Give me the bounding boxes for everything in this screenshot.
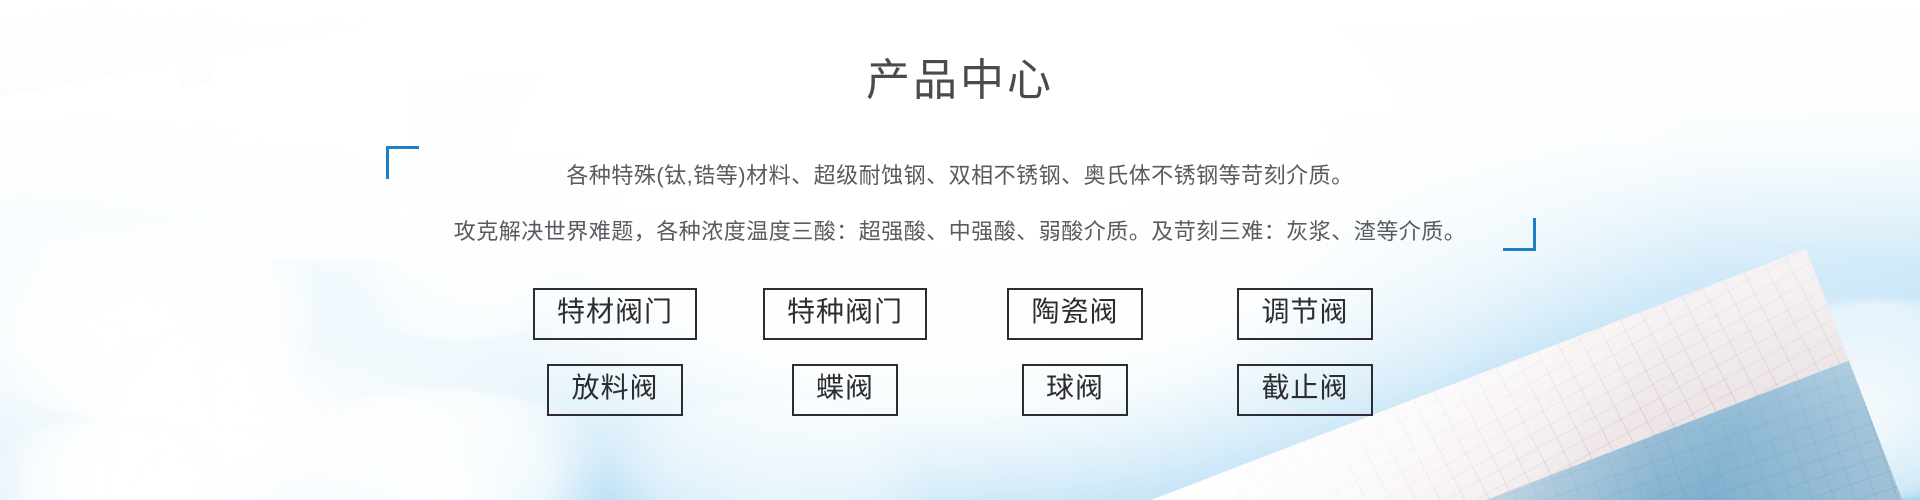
description-line-1: 各种特殊(钛,锆等)材料、超级耐蚀钢、双相不锈钢、奥氏体不锈钢等苛刻介质。 [0,148,1920,204]
product-category-cell: 陶瓷阀 [960,288,1190,340]
category-button-tezhong-famen[interactable]: 特种阀门 [763,288,927,340]
product-category-cell: 截止阀 [1190,364,1420,416]
product-category-grid: 特材阀门 特种阀门 陶瓷阀 调节阀 放料阀 蝶阀 [500,288,1420,440]
category-button-tiaojie-fa[interactable]: 调节阀 [1237,288,1372,340]
product-category-row: 放料阀 蝶阀 球阀 截止阀 [500,364,1420,416]
product-category-cell: 特种阀门 [730,288,960,340]
product-category-cell: 球阀 [960,364,1190,416]
product-category-cell: 蝶阀 [730,364,960,416]
banner-content: 产品中心 各种特殊(钛,锆等)材料、超级耐蚀钢、双相不锈钢、奥氏体不锈钢等苛刻介… [0,0,1920,500]
category-button-die-fa[interactable]: 蝶阀 [792,364,898,416]
category-button-techai-famen[interactable]: 特材阀门 [533,288,697,340]
product-category-cell: 放料阀 [500,364,730,416]
product-category-row: 特材阀门 特种阀门 陶瓷阀 调节阀 [500,288,1420,340]
description-line-2: 攻克解决世界难题，各种浓度温度三酸：超强酸、中强酸、弱酸介质。及苛刻三难：灰浆、… [0,204,1920,260]
product-center-banner: 产品中心 各种特殊(钛,锆等)材料、超级耐蚀钢、双相不锈钢、奥氏体不锈钢等苛刻介… [0,0,1920,500]
category-button-qiu-fa[interactable]: 球阀 [1022,364,1128,416]
description-block: 各种特殊(钛,锆等)材料、超级耐蚀钢、双相不锈钢、奥氏体不锈钢等苛刻介质。 攻克… [0,148,1920,260]
category-button-fangliao-fa[interactable]: 放料阀 [547,364,682,416]
product-category-cell: 特材阀门 [500,288,730,340]
category-button-jiezhi-fa[interactable]: 截止阀 [1237,364,1372,416]
product-category-cell: 调节阀 [1190,288,1420,340]
page-title: 产品中心 [0,52,1920,110]
category-button-taoci-fa[interactable]: 陶瓷阀 [1007,288,1142,340]
